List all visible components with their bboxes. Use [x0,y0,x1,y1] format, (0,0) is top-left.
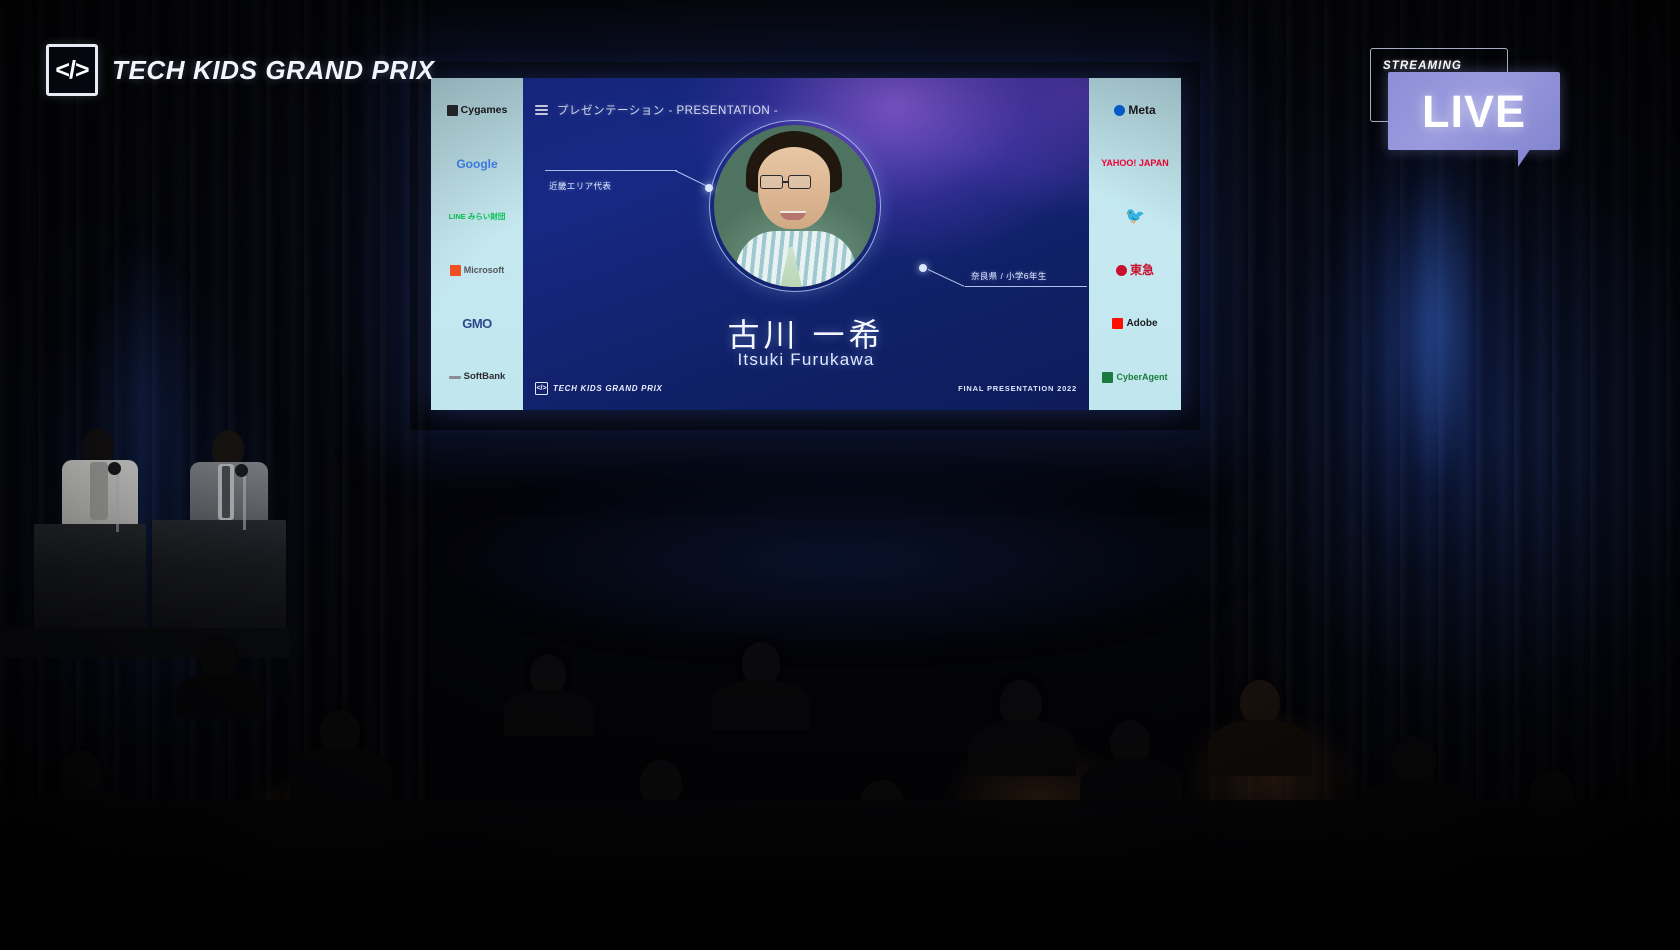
live-bubble-tail [1518,148,1531,167]
foreground-shadow [0,840,1680,950]
audience-seat-row [0,800,1680,950]
sponsor-mark-icon [1116,265,1127,276]
sponsor-rail-left: Cygames Google LINE みらい財団 Microsoft GMO … [431,78,523,410]
sponsor-logo: YAHOO! JAPAN [1089,144,1181,184]
sponsor-name: 東急 [1130,264,1154,277]
sponsor-logo: Google [431,144,523,184]
sponsor-logo: SoftBank [431,357,523,397]
sponsor-mark-icon [1112,318,1123,329]
portrait-glasses-bridge [783,181,789,183]
audience-area [0,620,1680,950]
code-brackets-glyph: </> [55,58,88,83]
slide-event-label: FINAL PRESENTATION 2022 [958,384,1077,393]
podium-left [34,524,146,634]
callout-detail-label: 奈良県 / 小学6年生 [971,270,1047,282]
sponsor-mark-icon [1114,105,1125,116]
sponsor-logo: 🐦 [1089,197,1181,237]
sponsor-name: SoftBank [464,372,506,382]
sponsor-mark-icon [1102,372,1113,383]
sponsor-logo: Cygames [431,91,523,131]
stage-floor-edge [0,628,290,658]
code-brackets-glyph-small: </> [536,385,546,392]
slide-header-label: プレゼンテーション - PRESENTATION - [557,102,778,118]
microphone-head-left [108,462,121,475]
sponsor-name: Cygames [461,105,508,116]
sponsor-name: GMO [462,317,492,331]
stage-light-center [250,430,1430,690]
presenter-photo [714,125,876,287]
presenter-name-en: Itsuki Furukawa [523,350,1089,370]
slide-section-header: プレゼンテーション - PRESENTATION - [535,102,778,118]
channel-brand-overlay: </> TECH KIDS GRAND PRIX [46,44,435,96]
sponsor-name: YAHOO! JAPAN [1101,159,1169,168]
sponsor-rail-right: Meta YAHOO! JAPAN 🐦 東急 Adobe CyberAgent [1089,78,1181,410]
code-brackets-icon-small: </> [535,382,548,395]
live-status-badge: STREAMING LIVE [1370,48,1638,152]
sponsor-name: Google [456,158,497,171]
slide-footer-brand: </> TECH KIDS GRAND PRIX [535,382,663,395]
brand-title: TECH KIDS GRAND PRIX [112,55,435,86]
microphone-stand-right [243,472,246,530]
microphone-stand-left [116,470,119,532]
presenter-portrait-frame [709,120,881,292]
sponsor-mark-icon [449,376,461,379]
sponsor-logo: GMO [431,304,523,344]
sponsor-mark-icon [450,265,461,276]
sponsor-name: Meta [1128,104,1155,117]
sponsor-logo: Adobe [1089,304,1181,344]
callout-detail: 奈良県 / 小学6年生 [915,256,1091,302]
sponsor-logo: Meta [1089,91,1181,131]
podium-right [152,520,286,632]
slide-footer-brand-label: TECH KIDS GRAND PRIX [553,384,663,393]
portrait-glasses-right [788,175,811,189]
streaming-label: STREAMING [1383,60,1462,72]
live-speech-bubble: LIVE [1388,72,1560,150]
sponsor-name: 🐦 [1125,209,1145,226]
microphone-head-right [235,464,248,477]
broadcast-frame: </> TECH KIDS GRAND PRIX STREAMING LIVE … [0,0,1680,950]
callout-area: 近畿エリア代表 [535,160,715,210]
portrait-glasses-left [760,175,783,189]
projection-screen: Cygames Google LINE みらい財団 Microsoft GMO … [431,78,1181,410]
sponsor-logo: 東急 [1089,251,1181,291]
sponsor-name: Microsoft [464,266,505,275]
sponsor-name: CyberAgent [1116,373,1167,382]
sponsor-name: Adobe [1126,319,1157,330]
menu-lines-icon [535,105,548,115]
sponsor-logo: CyberAgent [1089,357,1181,397]
sponsor-logo: Microsoft [431,251,523,291]
sponsor-logo: LINE みらい財団 [431,197,523,237]
callout-area-label: 近畿エリア代表 [549,180,611,192]
live-label: LIVE [1422,89,1526,134]
code-brackets-icon: </> [46,44,98,96]
sponsor-name: LINE みらい財団 [449,213,506,221]
sponsor-mark-icon [447,105,458,116]
